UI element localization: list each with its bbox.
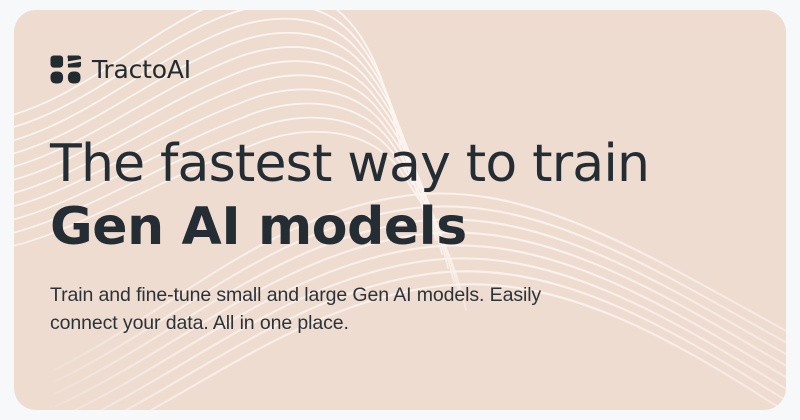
promo-banner: TractoAI The fastest way to train Gen AI… bbox=[14, 10, 786, 410]
headline-line-1: The fastest way to train bbox=[50, 138, 750, 190]
headline-line-2: Gen AI models bbox=[50, 201, 750, 253]
brand-name-text: TractoAI bbox=[92, 57, 191, 82]
subtitle-line-2: connect your data. All in one place. bbox=[50, 310, 670, 338]
brand-logo-lockup[interactable]: TractoAI bbox=[50, 52, 191, 86]
headline: The fastest way to train Gen AI models bbox=[50, 138, 750, 253]
subtitle-line-1: Train and fine-tune small and large Gen … bbox=[50, 282, 670, 310]
tracto-grid-logo-icon bbox=[50, 54, 81, 85]
subtitle: Train and fine-tune small and large Gen … bbox=[50, 282, 670, 337]
